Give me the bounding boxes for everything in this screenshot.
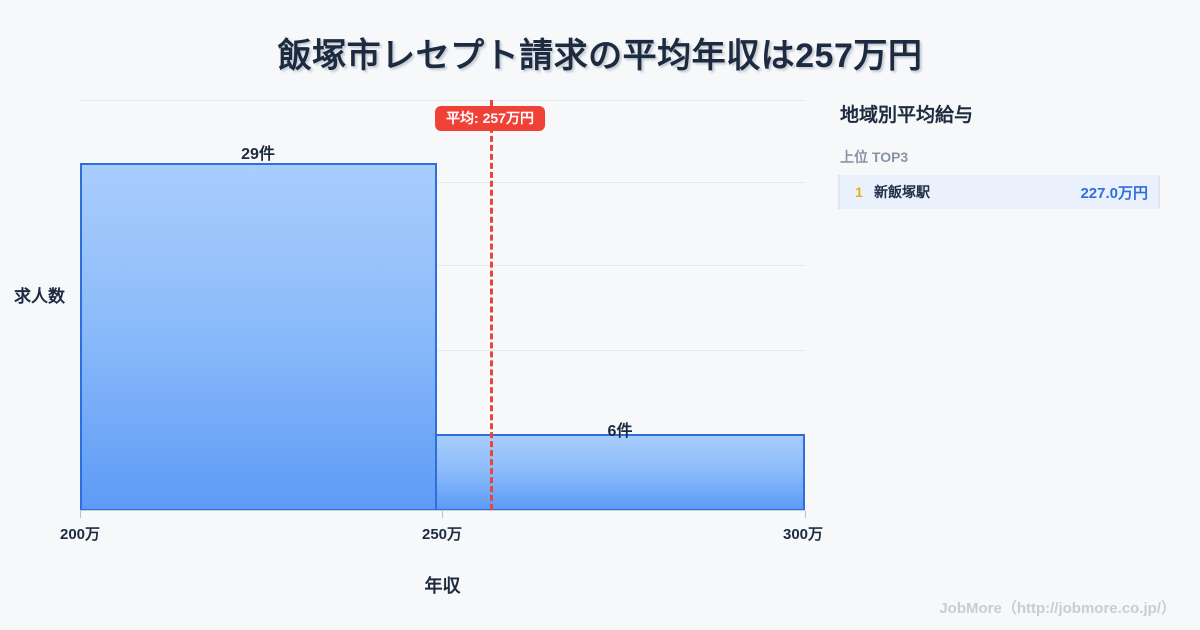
bar-label-250-300: 6件 <box>608 417 633 441</box>
rank-list: 1 新飯塚駅 227.0万円 <box>838 175 1160 209</box>
regional-salary-panel: 地域別平均給与 上位 TOP3 1 新飯塚駅 227.0万円 <box>838 100 1168 209</box>
bar-label-200-250: 29件 <box>241 140 275 164</box>
sidebar-heading: 地域別平均給与 <box>840 100 1168 127</box>
rank-number: 1 <box>850 184 868 200</box>
x-tick <box>805 511 806 518</box>
list-item[interactable]: 1 新飯塚駅 227.0万円 <box>838 175 1160 209</box>
x-axis-title: 年収 <box>80 572 805 598</box>
gridline <box>80 100 805 101</box>
rank-salary-value: 227.0万円 <box>1080 182 1148 203</box>
x-tick-label-300: 300万 <box>783 523 823 544</box>
x-tick-label-250: 250万 <box>422 523 462 544</box>
sidebar-subheading: 上位 TOP3 <box>840 147 1168 167</box>
bar-200-250[interactable] <box>80 163 437 511</box>
average-badge: 平均: 257万円 <box>435 106 545 131</box>
x-tick-label-200: 200万 <box>60 523 100 544</box>
x-tick <box>80 511 81 518</box>
x-tick <box>442 511 443 518</box>
average-line <box>490 100 493 510</box>
y-axis-title: 求人数 <box>14 282 65 307</box>
rank-station-name: 新飯塚駅 <box>874 182 930 202</box>
chart-page: 飯塚市レセプト請求の平均年収は257万円 29件 6件 平均: 257万円 20… <box>0 0 1200 630</box>
watermark: JobMore（http://jobmore.co.jp/） <box>939 597 1176 618</box>
chart-area: 29件 6件 平均: 257万円 200万 250万 300万 求人数 年収 <box>0 0 830 630</box>
